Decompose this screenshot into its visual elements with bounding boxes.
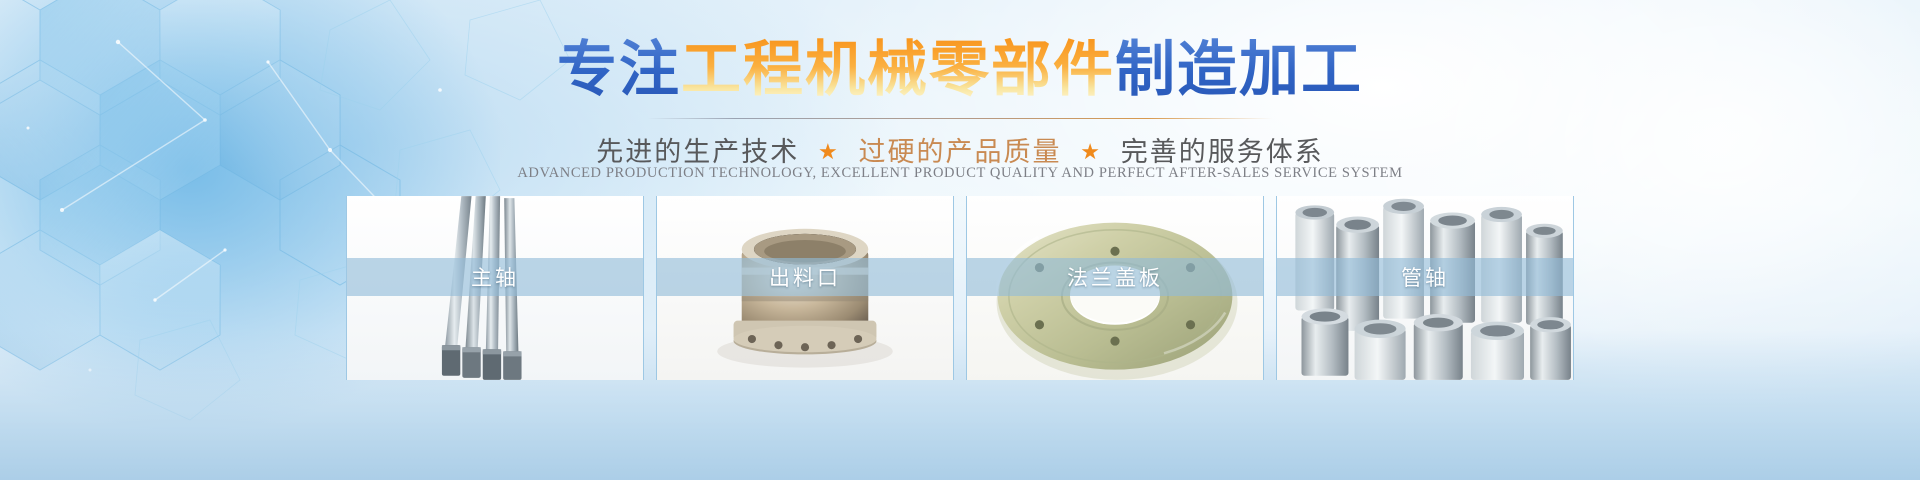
star-icon: ★: [818, 139, 840, 164]
banner-subline: 先进的生产技术 ★ 过硬的产品质量 ★ 完善的服务体系: [0, 130, 1920, 169]
banner-headline: 专注工程机械零部件制造加工: [0, 40, 1920, 100]
headline-segment-focus: 专注: [557, 37, 681, 103]
subline-item-technology: 先进的生产技术: [596, 137, 799, 167]
product-card-label: 主轴: [347, 258, 643, 296]
product-card[interactable]: 管轴: [1276, 196, 1574, 380]
promo-banner: 专注工程机械零部件制造加工 先进的生产技术 ★ 过硬的产品质量 ★ 完善的服务体…: [0, 0, 1920, 480]
subline-item-quality: 过硬的产品质量: [859, 137, 1062, 167]
product-card[interactable]: 法兰盖板: [966, 196, 1264, 380]
product-card-label: 管轴: [1277, 258, 1573, 296]
product-card[interactable]: 主轴: [346, 196, 644, 380]
product-card[interactable]: 出料口: [656, 196, 954, 380]
product-card-label: 法兰盖板: [967, 258, 1263, 296]
headline-segment-products: 工程机械零部件: [681, 37, 1115, 103]
product-card-list: 主轴: [346, 196, 1574, 380]
headline-segment-manufacturing: 制造加工: [1115, 37, 1363, 103]
english-tagline: ADVANCED PRODUCTION TECHNOLOGY, EXCELLEN…: [0, 165, 1920, 182]
subline-item-service: 完善的服务体系: [1121, 137, 1324, 167]
star-icon: ★: [1080, 139, 1102, 164]
product-card-label: 出料口: [657, 258, 953, 296]
headline-divider: [648, 118, 1273, 119]
